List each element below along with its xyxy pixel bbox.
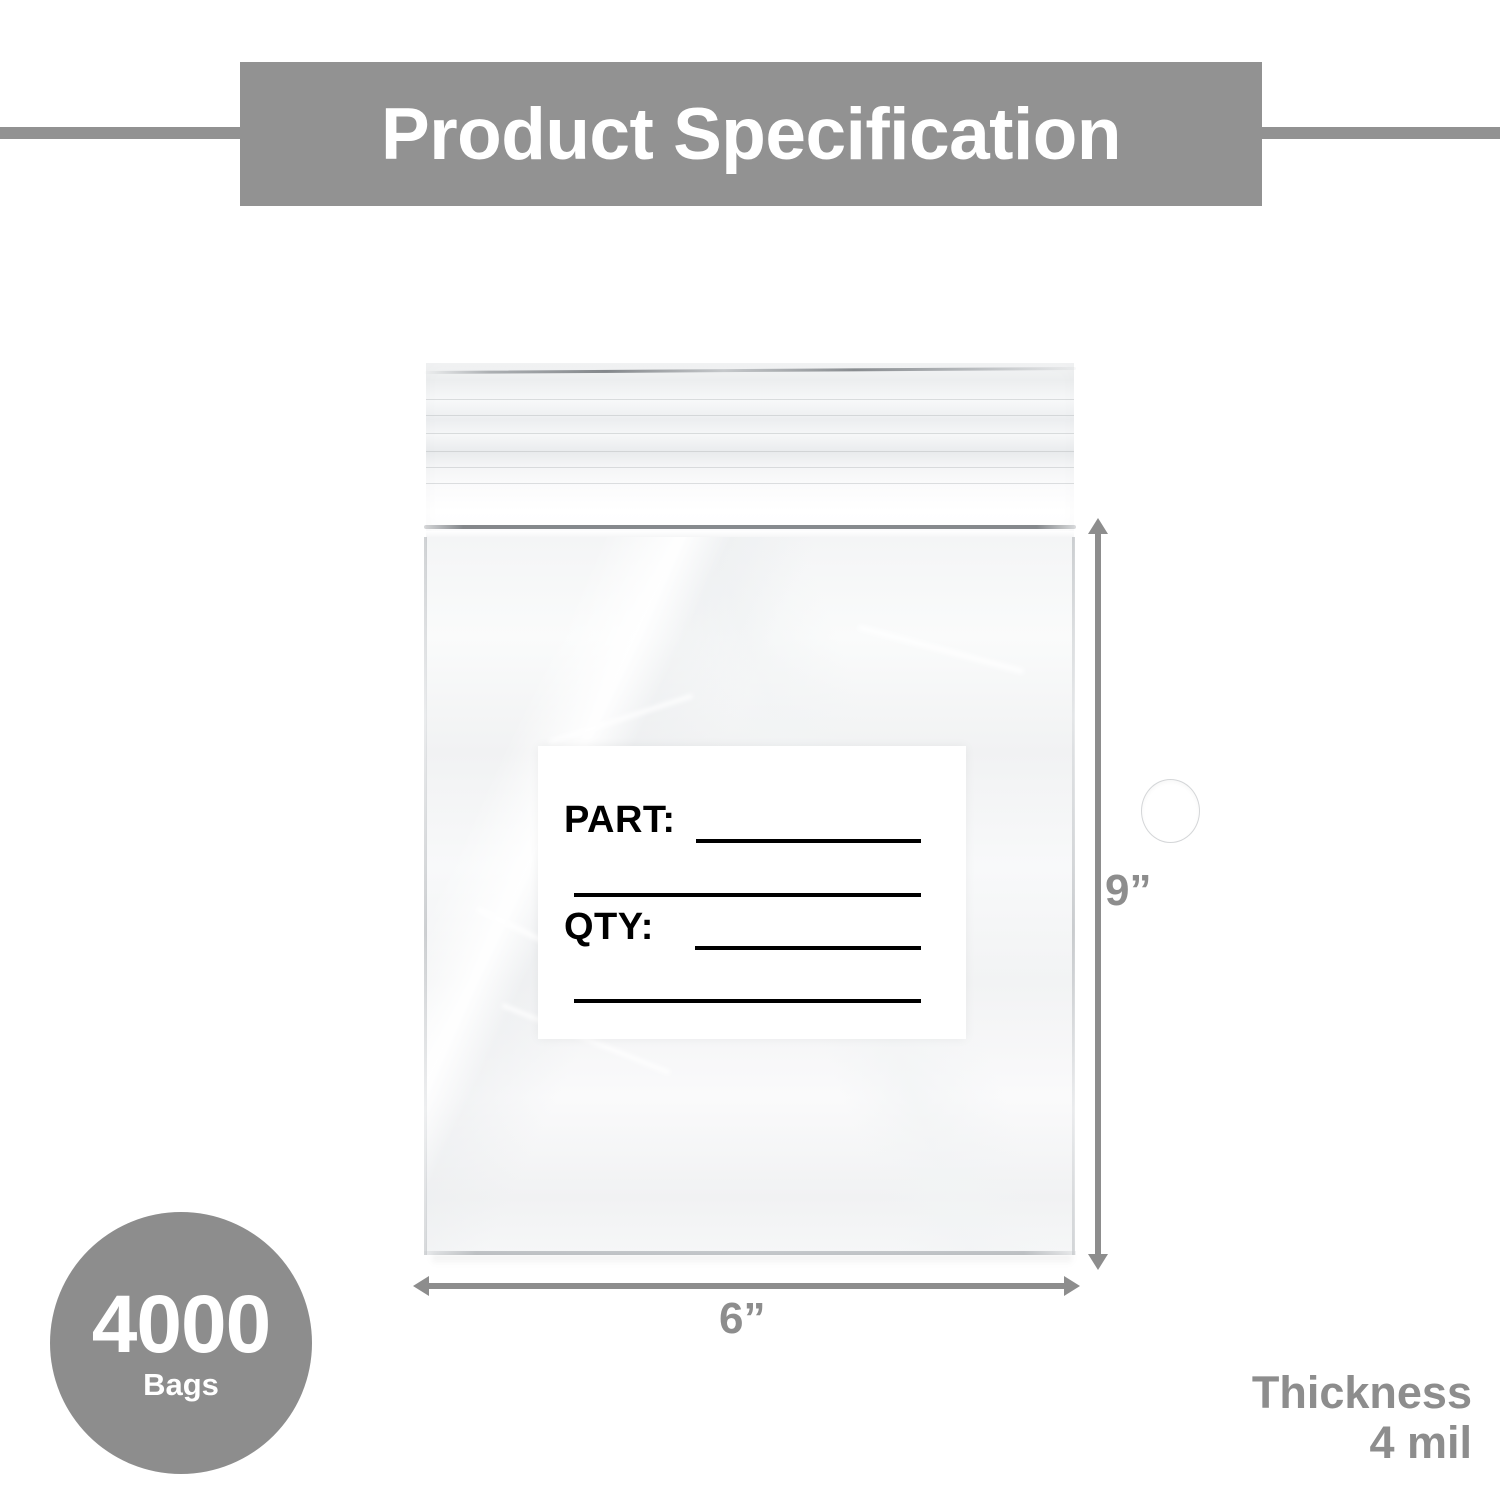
thickness-value: 4 mil — [1252, 1418, 1472, 1468]
flap-ridge — [426, 433, 1074, 434]
label-qty-text: QTY: — [564, 908, 654, 946]
label-part-text: PART: — [564, 801, 676, 839]
quantity-count: 4000 — [92, 1286, 270, 1364]
width-dimension-label: 6” — [719, 1297, 765, 1341]
label-line-part — [696, 839, 921, 843]
bag-crease — [858, 625, 1024, 674]
header-rule-right — [1255, 127, 1500, 139]
bag-drop-shadow — [432, 1255, 1072, 1265]
label-field-qty: QTY: — [564, 908, 654, 946]
height-dimension-arrow — [1095, 533, 1101, 1255]
bag-crease — [549, 694, 693, 744]
hang-hole-icon — [1142, 780, 1199, 842]
quantity-badge: 4000 Bags — [50, 1212, 312, 1474]
flap-ridge — [426, 451, 1074, 452]
header-bar: Product Specification — [240, 62, 1262, 206]
flap-ridge — [426, 467, 1074, 468]
product-specification-page: Product Specification PART: — [0, 0, 1500, 1500]
bag-top-flap — [426, 363, 1074, 535]
header-rule-left — [0, 127, 245, 139]
write-on-label: PART: QTY: — [538, 746, 966, 1039]
label-line-2 — [574, 893, 921, 897]
thickness-block: Thickness 4 mil — [1252, 1368, 1472, 1469]
label-line-4 — [574, 999, 921, 1003]
width-dimension-arrow — [428, 1283, 1065, 1289]
thickness-label: Thickness — [1252, 1368, 1472, 1418]
zipper-seal-line — [424, 525, 1076, 529]
flap-ridge — [426, 483, 1074, 484]
flap-ridge — [426, 399, 1074, 400]
height-dimension-label: 9” — [1105, 869, 1151, 913]
flap-ridge — [426, 415, 1074, 416]
bag-left-edge — [424, 537, 427, 1255]
quantity-unit: Bags — [143, 1369, 219, 1400]
page-title: Product Specification — [381, 98, 1121, 171]
bag-right-edge — [1072, 537, 1075, 1255]
label-line-qty — [695, 946, 921, 950]
label-field-part: PART: — [564, 801, 676, 839]
